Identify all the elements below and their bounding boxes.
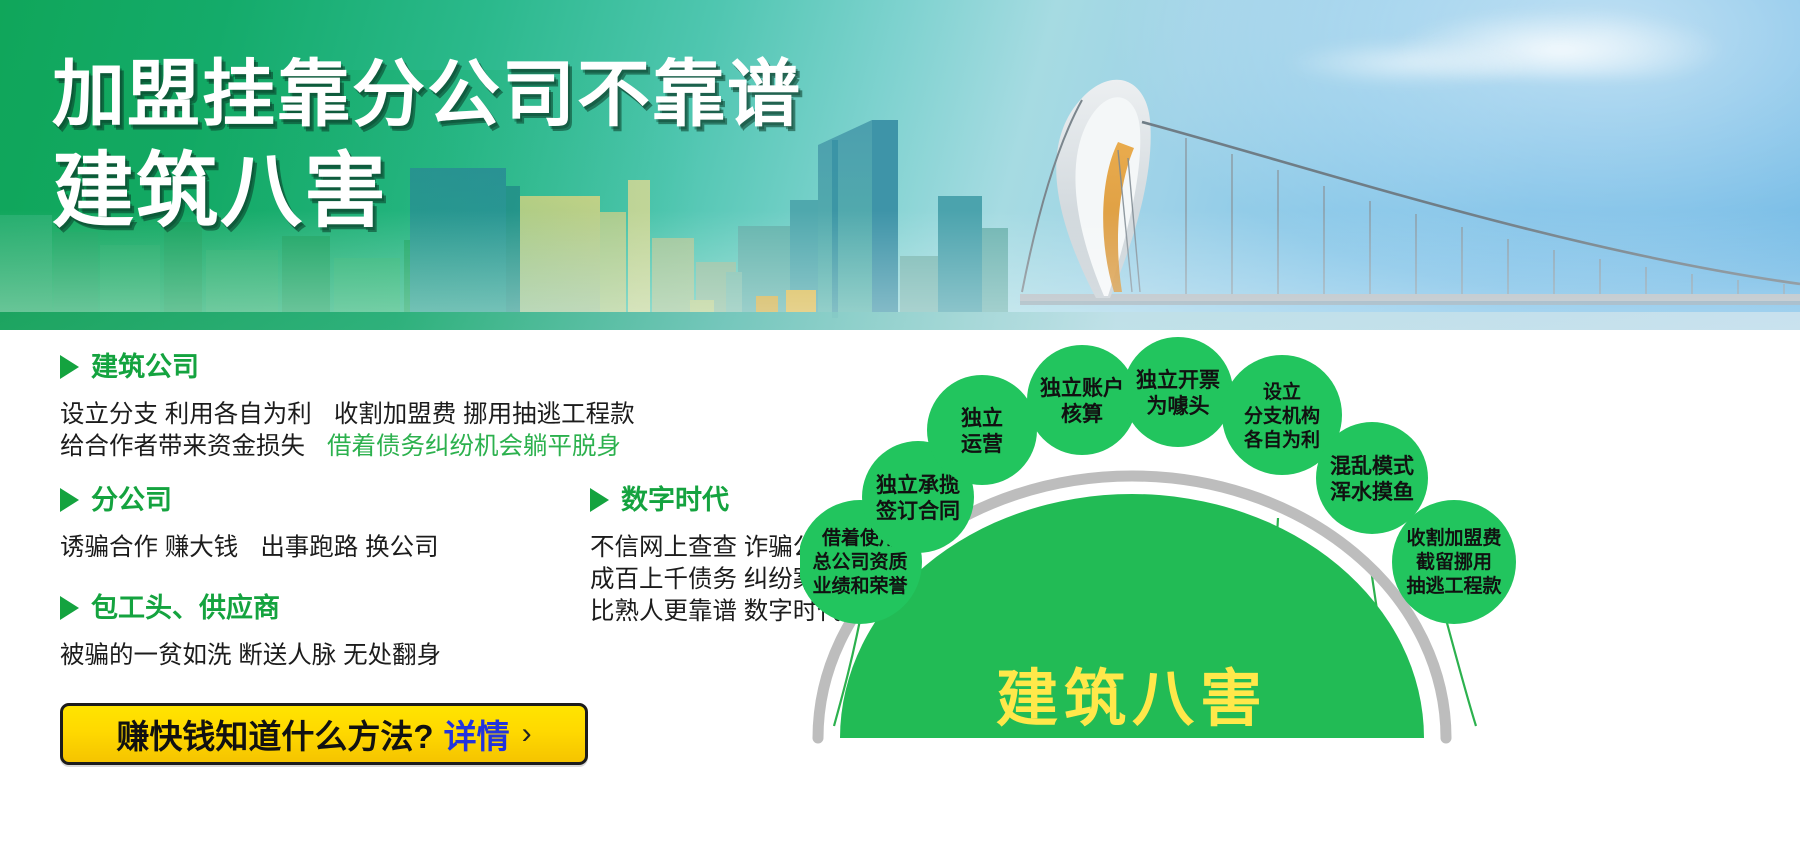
triangle-bullet-icon [60,355,79,379]
cta-label: 赚快钱知道什么方法? [116,710,433,758]
bubble-b3[interactable]: 独立 运营 [927,375,1037,485]
cta-button[interactable]: 赚快钱知道什么方法? 详情 › [60,703,588,765]
bubble-line: 分支机构 [1244,404,1320,427]
bubble-line: 独立承揽 [876,473,960,497]
diagram-svg: 建筑八害 借着使用 总公司资质 业绩和荣誉 独立承揽 签订合同 独立 运营 独立… [800,330,1800,844]
section-title: 分公司 [91,485,172,515]
body-line: 被骗的一贫如洗 断送人脉 无处翻身 [60,640,620,672]
headline-line-1: 加盟挂靠分公司不靠谱 [52,52,802,138]
section-header: 分公司 [60,485,540,515]
chevron-right-icon: › [522,717,532,751]
bubble-line: 为噱头 [1147,395,1210,418]
headline-line-2: 建筑八害 [52,144,802,240]
hero-headline: 加盟挂靠分公司不靠谱 建筑八害 [52,52,802,240]
body-line: 给合作者带来资金损失借着债务纠纷机会躺平脱身 [60,431,680,463]
bubble-line: 收割加盟费 [1406,526,1501,549]
body-line: 诱骗合作 赚大钱出事跑路 换公司 [60,532,540,564]
body-text: 给合作者带来资金损失 [60,433,305,460]
hero-banner: 加盟挂靠分公司不靠谱 建筑八害 [0,0,1800,330]
body-text-2: 收割加盟费 挪用抽逃工程款 [334,401,635,428]
section-body: 设立分支 利用各自为利收割加盟费 挪用抽逃工程款 给合作者带来资金损失借着债务纠… [60,399,680,463]
bubble-b5[interactable]: 独立开票 为噱头 [1123,337,1233,447]
section-body: 被骗的一贫如洗 断送人脉 无处翻身 [60,640,620,672]
bubble-line: 签订合同 [875,499,960,523]
bubble-b4[interactable]: 独立账户 核算 [1027,345,1137,455]
bubble-line: 设立 [1263,380,1301,403]
bubble-line: 业绩和荣誉 [812,574,908,597]
bubble-line: 各自为利 [1243,428,1320,451]
bubble-line: 独立账户 [1040,376,1124,400]
bubble-line: 总公司资质 [812,550,907,573]
body-text: 诱骗合作 赚大钱 [60,534,238,561]
section-branch-company: 分公司 诱骗合作 赚大钱出事跑路 换公司 [60,485,540,564]
section-title: 数字时代 [621,485,729,515]
section-header: 包工头、供应商 [60,593,620,623]
triangle-bullet-icon [60,596,79,620]
body-text-highlight: 借着债务纠纷机会躺平脱身 [327,433,621,460]
bubble-b8[interactable]: 收割加盟费 截留挪用 抽逃工程款 [1392,500,1516,624]
bubble-line: 核算 [1061,402,1103,426]
triangle-bullet-icon [590,488,609,512]
cta-detail-link[interactable]: 详情 [444,710,510,758]
bubble-line: 混乱模式 [1330,454,1414,478]
bubble-line: 抽逃工程款 [1406,574,1502,597]
dome-label: 建筑八害 [996,665,1268,734]
ground-strip [0,312,1800,330]
triangle-bullet-icon [60,488,79,512]
bubble-line: 运营 [961,432,1003,456]
body-text-2: 出事跑路 换公司 [260,534,438,561]
section-contractor-supplier: 包工头、供应商 被骗的一贫如洗 断送人脉 无处翻身 [60,593,620,672]
eight-harms-diagram: 建筑八害 借着使用 总公司资质 业绩和荣誉 独立承揽 签订合同 独立 运营 独立… [800,330,1800,844]
section-construction-company: 建筑公司 设立分支 利用各自为利收割加盟费 挪用抽逃工程款 给合作者带来资金损失… [60,352,680,463]
section-title: 建筑公司 [91,352,199,382]
section-header: 建筑公司 [60,352,680,382]
bubble-line: 截留挪用 [1416,550,1492,573]
bubble-line: 浑水摸鱼 [1330,480,1414,504]
section-body: 诱骗合作 赚大钱出事跑路 换公司 [60,532,540,564]
body-line: 设立分支 利用各自为利收割加盟费 挪用抽逃工程款 [60,399,680,431]
bubble-line: 独立开票 [1136,368,1220,392]
bubble-line: 独立 [961,406,1003,430]
body-text: 被骗的一贫如洗 断送人脉 无处翻身 [60,642,441,669]
section-title: 包工头、供应商 [91,593,280,623]
body-text: 设立分支 利用各自为利 [60,401,312,428]
